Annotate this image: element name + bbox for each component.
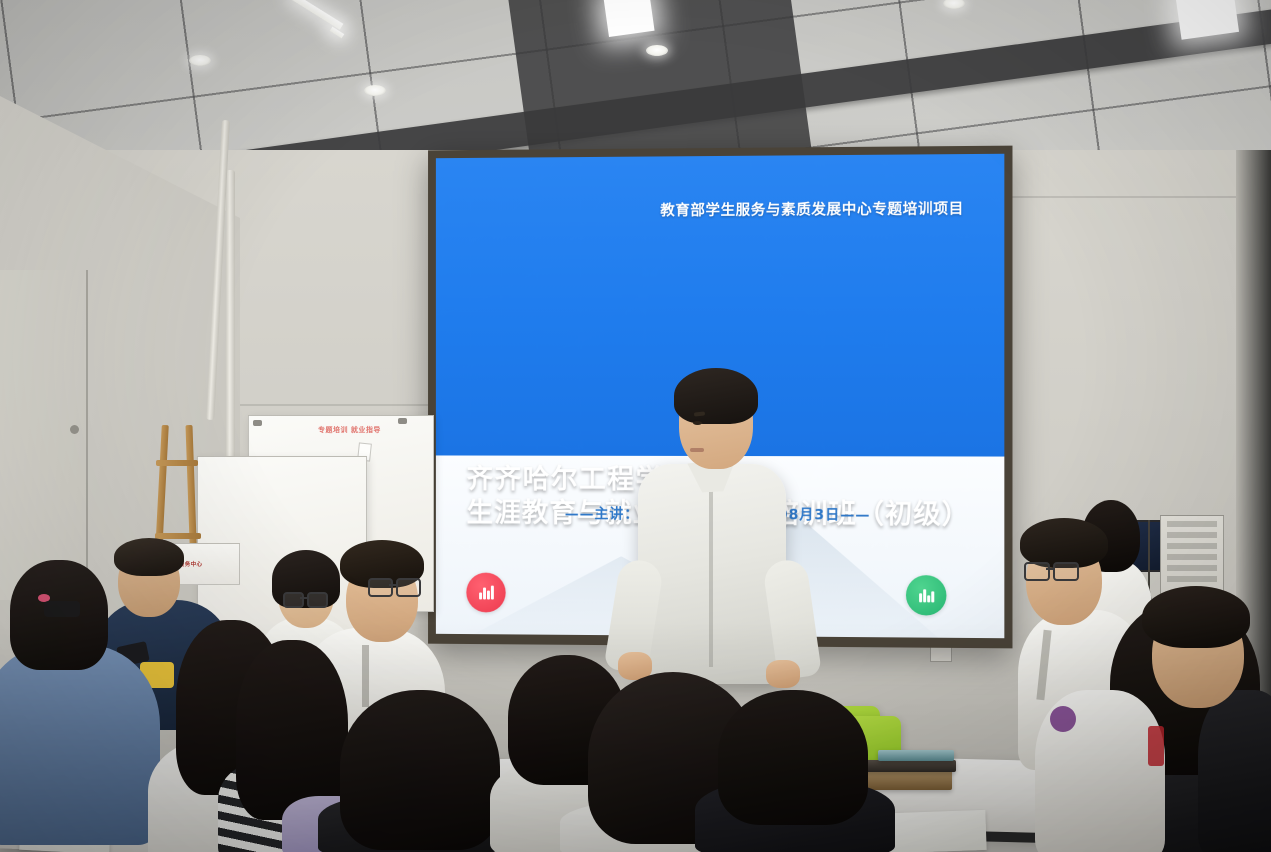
ceiling-panel-light-1: [603, 0, 654, 37]
book-teal[interactable]: [878, 750, 954, 761]
left-door[interactable]: [0, 270, 88, 600]
easel-crossbar-bottom: [155, 533, 201, 539]
speaker-hair: [674, 368, 758, 424]
man-glasses-lens-right: [396, 578, 421, 597]
whiteboard-clip-right: [398, 418, 407, 424]
speaker-mouth: [690, 448, 704, 452]
speaker-hand-right: [766, 660, 800, 688]
ceiling-downlight-3: [646, 45, 668, 56]
right-glasses-lens-left: [1024, 562, 1050, 581]
speaker-eye: [693, 421, 702, 425]
speaker-shirt-placket: [709, 482, 713, 667]
slide-logo-green: [906, 575, 947, 616]
door-knob[interactable]: [70, 425, 79, 434]
whiteboard-back-note: 专题培训 就业指导: [318, 425, 381, 435]
tshirt-graphic: [1050, 706, 1076, 732]
tshirt-side-print: [1148, 726, 1164, 766]
attendee-denim-body: [0, 645, 160, 845]
attendee-back-man-navy-hair: [114, 538, 184, 576]
logo-green-bars-icon: [919, 587, 934, 602]
logo-red-bars-icon: [479, 585, 493, 600]
glasses-lens-left: [283, 592, 304, 608]
slide-header-text: 教育部学生服务与素质发展中心专题培训项目: [660, 198, 964, 221]
man-glasses-bridge: [389, 584, 396, 586]
attendee-right-edge-body: [1198, 690, 1271, 852]
glasses-bridge: [300, 597, 307, 599]
ceiling-downlight-1: [189, 55, 211, 66]
attendee-lanyard: [362, 645, 369, 707]
classroom-photo: 教育部学生服务与素质发展中心专题培训项目 齐齐哈尔工程学院 生涯教育与就业指导专…: [0, 0, 1271, 852]
right-glasses-lens-right: [1053, 562, 1079, 581]
glasses-lens-right: [307, 592, 328, 608]
attendee-center-dark-tshirt-hair: [718, 690, 868, 825]
whiteboard-clip-left: [253, 420, 262, 426]
attendee-front-center-left-hair: [340, 690, 500, 850]
slide-logo-red: [467, 572, 506, 612]
attendee-striped-hair: [236, 640, 348, 820]
wall-seam-2: [1010, 196, 1236, 198]
ceiling-downlight-2: [364, 85, 386, 96]
attendee-right-glasses-hair: [1020, 518, 1108, 568]
sunglasses-on-head-icon: [44, 601, 80, 617]
attendee-right-edge-hair: [1142, 586, 1250, 648]
man-glasses-lens-left: [368, 578, 393, 597]
right-glasses-bridge: [1046, 568, 1053, 570]
easel-crossbar-top: [156, 460, 198, 466]
